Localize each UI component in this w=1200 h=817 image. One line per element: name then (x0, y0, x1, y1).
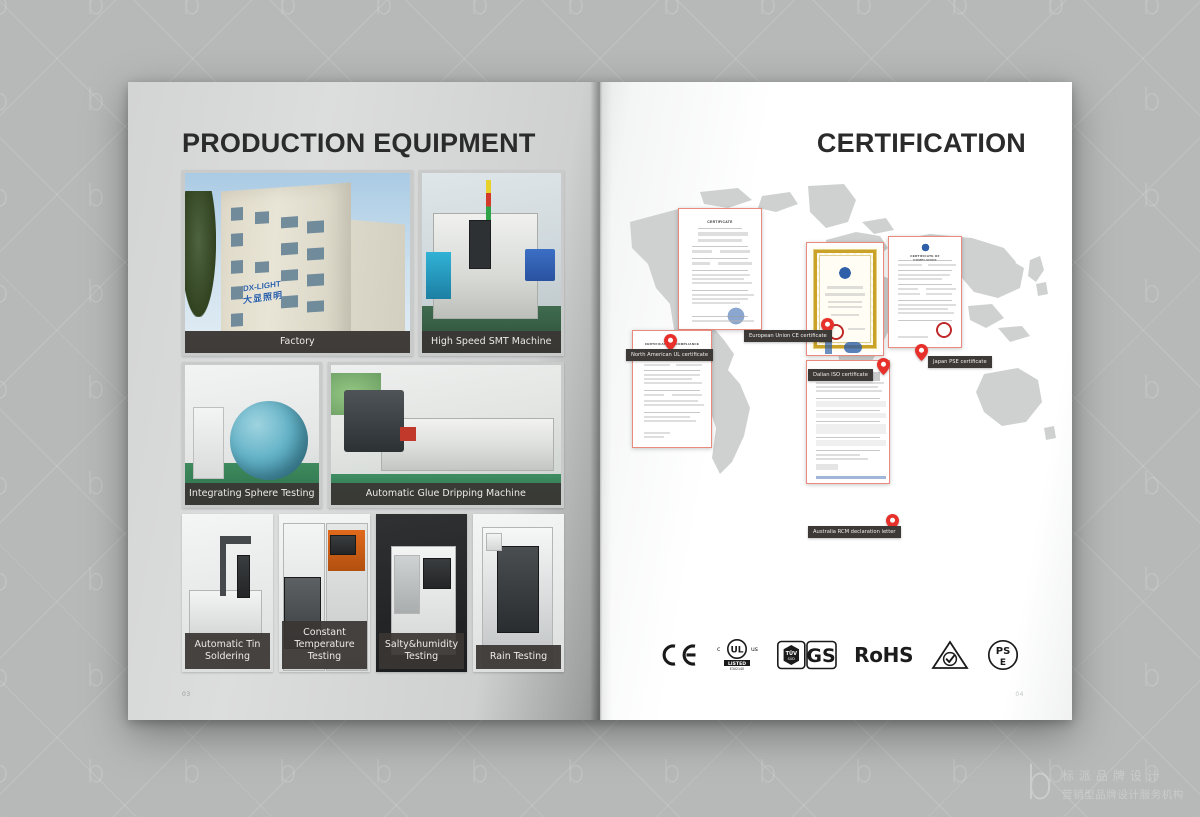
background-b-logo: b (758, 0, 777, 20)
background-b-logo: b (470, 758, 489, 788)
photo-card-salty-humidity[interactable]: Salty&humidity Testing (376, 514, 467, 672)
background-b-logo: b (0, 470, 9, 500)
watermark-line-2: 营销型品牌设计服务机构 (1062, 787, 1184, 802)
background-b-logo: b (950, 758, 969, 788)
photo-card-constant-temperature[interactable]: Constant Temperature Testing (279, 514, 370, 672)
photo-card-smt-machine[interactable]: High Speed SMT Machine (419, 170, 564, 356)
svg-text:TÜV: TÜV (785, 650, 796, 657)
background-b-logo: b (86, 278, 105, 308)
svg-text:us: us (751, 646, 758, 653)
watermark-text: 标派品牌设计 营销型品牌设计服务机构 (1062, 767, 1184, 802)
svg-text:c: c (717, 646, 720, 653)
background-b-logo: b (1142, 662, 1161, 692)
background-b-logo: b (0, 182, 9, 212)
background-b-logo: b (1142, 470, 1161, 500)
background-b-logo: b (86, 662, 105, 692)
pse-mark-icon: PS E (986, 639, 1020, 671)
background-b-logo: b (182, 758, 201, 788)
svg-text:E302140: E302140 (730, 667, 744, 671)
background-b-logo: b (86, 758, 105, 788)
rcm-mark-icon (931, 640, 969, 670)
svg-text:PS: PS (996, 646, 1011, 657)
background-b-logo: b (0, 566, 9, 596)
svg-text:E: E (1000, 658, 1006, 668)
certification-world-map: CERTIFICATE (612, 178, 1060, 518)
map-pin-japan[interactable] (915, 344, 928, 361)
background-b-logo: b (86, 86, 105, 116)
page-number-left: 03 (182, 691, 191, 698)
map-pin-china[interactable] (877, 358, 890, 375)
svg-text:LISTED: LISTED (728, 661, 746, 667)
photo-caption: High Speed SMT Machine (422, 331, 561, 353)
photo-caption: Integrating Sphere Testing (185, 483, 319, 505)
background-b-logo: b (86, 0, 105, 20)
watermark: b 标派品牌设计 营销型品牌设计服务机构 (1025, 765, 1184, 803)
background-b-logo: b (0, 374, 9, 404)
svg-text:UL: UL (731, 645, 744, 655)
background-b-logo: b (1142, 374, 1161, 404)
background-b-logo: b (950, 0, 969, 20)
photo-caption: Constant Temperature Testing (282, 621, 367, 669)
background-b-logo: b (662, 0, 681, 20)
background-b-logo: b (470, 0, 489, 20)
background-b-logo: b (0, 0, 9, 20)
background-b-logo: b (86, 566, 105, 596)
ul-mark-icon: c us UL LISTED E302140 (715, 638, 759, 672)
background-b-logo: b (0, 86, 9, 116)
background-b-logo: b (0, 662, 9, 692)
page-number-right: 04 (1015, 691, 1024, 698)
background-b-logo: b (854, 758, 873, 788)
factory-photo: DX-LIGHT 大显照明 (185, 173, 410, 353)
map-label-north-america: North American UL certificate (626, 349, 713, 361)
background-b-logo: b (0, 278, 9, 308)
certification-marks-row: c us UL LISTED E302140 TÜV SÜD (660, 638, 1020, 672)
photo-caption: Salty&humidity Testing (379, 633, 464, 669)
rohs-mark-text: RoHS (854, 643, 913, 667)
map-label-china: Dalian ISO certificate (808, 369, 873, 381)
page-title-production-equipment: PRODUCTION EQUIPMENT (182, 128, 536, 159)
map-label-japan: Japan PSE certificate (928, 356, 992, 368)
photo-row-2: Integrating Sphere Testing Automatic Glu… (182, 362, 564, 508)
background-b-logo: b (1142, 566, 1161, 596)
background-b-logo: b (86, 182, 105, 212)
right-page: CERTIFICATION (600, 82, 1072, 720)
photo-card-rain-testing[interactable]: Rain Testing (473, 514, 564, 672)
watermark-logo: b (1025, 765, 1054, 803)
tuv-gs-mark-icon: TÜV SÜD GS (777, 640, 837, 670)
map-label-australia: Australia RCM declaration letter (808, 526, 901, 538)
brochure-spread: PRODUCTION EQUIPMENT (128, 82, 1072, 720)
background-b-logo: b (1142, 182, 1161, 212)
photo-caption: Rain Testing (476, 645, 561, 669)
factory-brand-text: DX-LIGHT 大显照明 (243, 279, 283, 307)
background-b-logo: b (854, 0, 873, 20)
background-b-logo: b (0, 758, 9, 788)
background-b-logo: b (86, 374, 105, 404)
page-backdrop: bbbbbbbbbbbbbbbbbbbbbbbbbbbbbbbbbbbbbbbb… (0, 0, 1200, 817)
photo-caption: Factory (185, 331, 410, 353)
photo-card-glue-dripping[interactable]: Automatic Glue Dripping Machine (328, 362, 564, 508)
photo-caption: Automatic Tin Soldering (185, 633, 270, 669)
rohs-mark-icon: RoHS (854, 643, 913, 667)
watermark-line-1: 标派品牌设计 (1062, 767, 1184, 784)
photo-card-factory[interactable]: DX-LIGHT 大显照明 Factory (182, 170, 413, 356)
photo-caption: Automatic Glue Dripping Machine (331, 483, 561, 505)
svg-text:SÜD: SÜD (787, 656, 795, 661)
smt-machine-photo (422, 173, 561, 353)
background-b-logo: b (278, 758, 297, 788)
ce-mark-icon (660, 643, 698, 667)
background-b-logo: b (662, 758, 681, 788)
background-b-logo: b (182, 0, 201, 20)
background-b-logo: b (566, 0, 585, 20)
background-b-logo: b (1046, 0, 1065, 20)
background-b-logo: b (758, 758, 777, 788)
cert-pse-certificate[interactable]: CERTIFICATE OF COMPLIANCE (888, 236, 962, 348)
background-b-logo: b (1142, 86, 1161, 116)
production-photo-grid: DX-LIGHT 大显照明 Factory (182, 170, 564, 678)
photo-row-1: DX-LIGHT 大显照明 Factory (182, 170, 564, 356)
background-b-logo: b (374, 758, 393, 788)
background-b-logo: b (374, 0, 393, 20)
photo-row-3: Automatic Tin Soldering Constant Tempera… (182, 514, 564, 672)
left-page: PRODUCTION EQUIPMENT (128, 82, 600, 720)
cert-ce-certificate[interactable]: CERTIFICATE (678, 208, 762, 330)
background-b-logo: b (278, 0, 297, 20)
photo-card-integrating-sphere[interactable]: Integrating Sphere Testing (182, 362, 322, 508)
background-b-logo: b (86, 470, 105, 500)
map-label-europe: European Union CE certificate (744, 330, 832, 342)
svg-text:GS: GS (806, 645, 835, 667)
photo-card-tin-soldering[interactable]: Automatic Tin Soldering (182, 514, 273, 672)
background-b-logo: b (566, 758, 585, 788)
page-title-certification: CERTIFICATION (817, 128, 1026, 159)
background-b-logo: b (1142, 278, 1161, 308)
background-b-logo: b (1142, 0, 1161, 20)
